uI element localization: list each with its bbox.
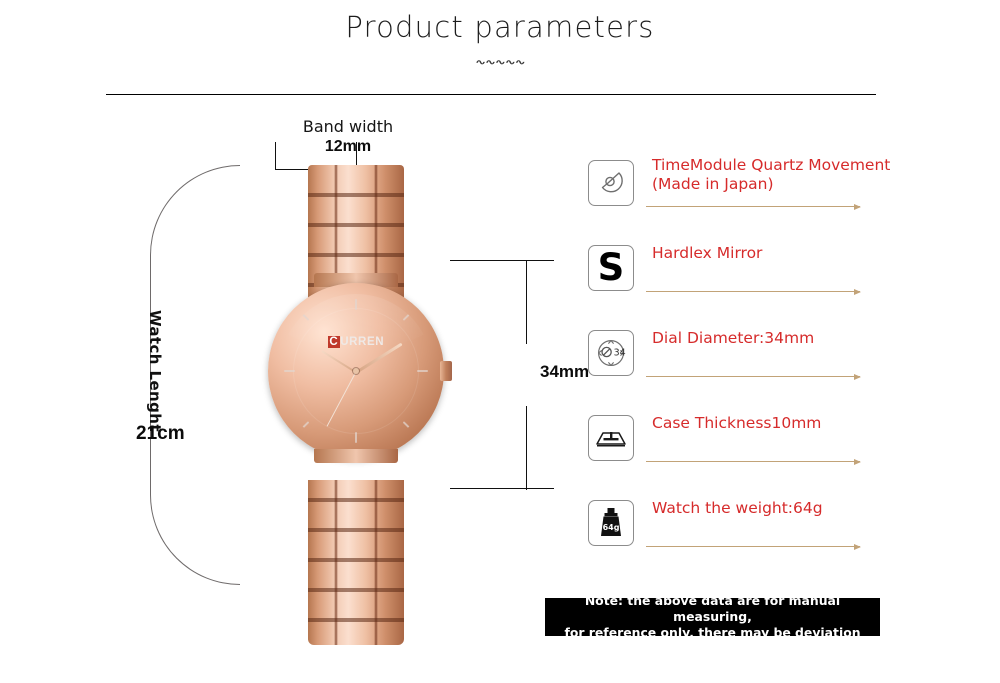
bracelet-link [308, 253, 404, 257]
feature-text-line1: Watch the weight:64g [652, 499, 982, 518]
feature-text: Dial Diameter:34mm [652, 329, 982, 348]
band-width-label: Band width [268, 117, 428, 136]
dial-diameter-icon-value: 34 [614, 347, 626, 358]
dimension-leader-bottom [450, 488, 554, 489]
infographic-stage: Product parameters ∿∿∿∿∿ Band width 12mm… [0, 0, 1000, 683]
dial-dimension-value: 34mm [540, 362, 589, 382]
disclaimer-note: Note: the above data are for manual meas… [545, 598, 880, 636]
dimension-leader-top [450, 260, 554, 261]
feature-text-line1: TimeModule Quartz Movement [652, 156, 982, 175]
bracelet-link [308, 528, 404, 532]
dimension-line-bottom [526, 406, 527, 490]
brand-logo: CURREN [279, 336, 433, 348]
watch-illustration: CURREN [268, 165, 444, 645]
dimension-line-top [526, 260, 527, 344]
watch-lug-bottom [314, 449, 398, 463]
feature-item-hardlex-mirror[interactable]: S Hardlex Mirror [588, 245, 988, 330]
hour-marker [417, 370, 428, 372]
bracelet-link [308, 558, 404, 562]
watch-case: CURREN [268, 283, 444, 459]
watch-dial: CURREN [279, 294, 433, 448]
hardlex-s-letter: S [598, 249, 625, 286]
note-line1: Note: the above data are for manual meas… [545, 593, 880, 625]
hour-marker [284, 370, 295, 372]
note-line2: for reference only, there may be deviati… [564, 625, 860, 641]
quartz-movement-icon [588, 160, 634, 206]
feature-item-weight[interactable]: 64g Watch the weight:64g [588, 500, 988, 585]
hour-marker [355, 299, 357, 310]
hardlex-s-icon: S [588, 245, 634, 291]
hour-marker [355, 432, 357, 443]
bracelet-bottom [308, 480, 404, 645]
watch-length-label: Watch Lenght [146, 310, 164, 432]
brand-initial: C [328, 336, 340, 348]
bracelet-link [308, 193, 404, 197]
feature-item-quartz-movement[interactable]: TimeModule Quartz Movement (Made in Japa… [588, 160, 988, 245]
bracelet-link [308, 618, 404, 622]
bracelet-link [308, 498, 404, 502]
title-decoration: ∿∿∿∿∿ [0, 58, 1000, 67]
bracelet-link [308, 223, 404, 227]
feature-text-line1: Dial Diameter:34mm [652, 329, 982, 348]
feature-text: Watch the weight:64g [652, 499, 982, 518]
watch-diagram: Band width 12mm Watch Lenght 21cm [150, 105, 570, 605]
feature-arrow-line [646, 546, 860, 547]
hour-marker [302, 421, 310, 429]
weight-icon: 64g [588, 500, 634, 546]
feature-text: TimeModule Quartz Movement (Made in Japa… [652, 156, 982, 195]
feature-text-line1: Hardlex Mirror [652, 244, 982, 263]
case-thickness-icon [588, 415, 634, 461]
bracelet-link [308, 588, 404, 592]
feature-text: Case Thickness10mm [652, 414, 982, 433]
feature-list: TimeModule Quartz Movement (Made in Japa… [588, 160, 988, 585]
feature-arrow-line [646, 461, 860, 462]
feature-text: Hardlex Mirror [652, 244, 982, 263]
feature-item-dial-diameter[interactable]: 34 Dial Diameter:34mm [588, 330, 988, 415]
feature-arrow-line [646, 291, 860, 292]
feature-arrow-line [646, 376, 860, 377]
feature-text-line2: (Made in Japan) [652, 175, 982, 194]
feature-arrow-line [646, 206, 860, 207]
weight-icon-value: 64g [603, 523, 620, 532]
dial-diameter-dimension: 34mm [450, 260, 580, 490]
feature-text-line1: Case Thickness10mm [652, 414, 982, 433]
watch-length-value: 21cm [136, 423, 185, 445]
hand-pin [353, 368, 359, 374]
brand-name: URREN [340, 336, 384, 348]
feature-item-case-thickness[interactable]: Case Thickness10mm [588, 415, 988, 500]
dial-diameter-icon: 34 [588, 330, 634, 376]
page-title: Product parameters [0, 10, 1000, 44]
hour-marker [403, 421, 411, 429]
header-divider [106, 94, 876, 95]
